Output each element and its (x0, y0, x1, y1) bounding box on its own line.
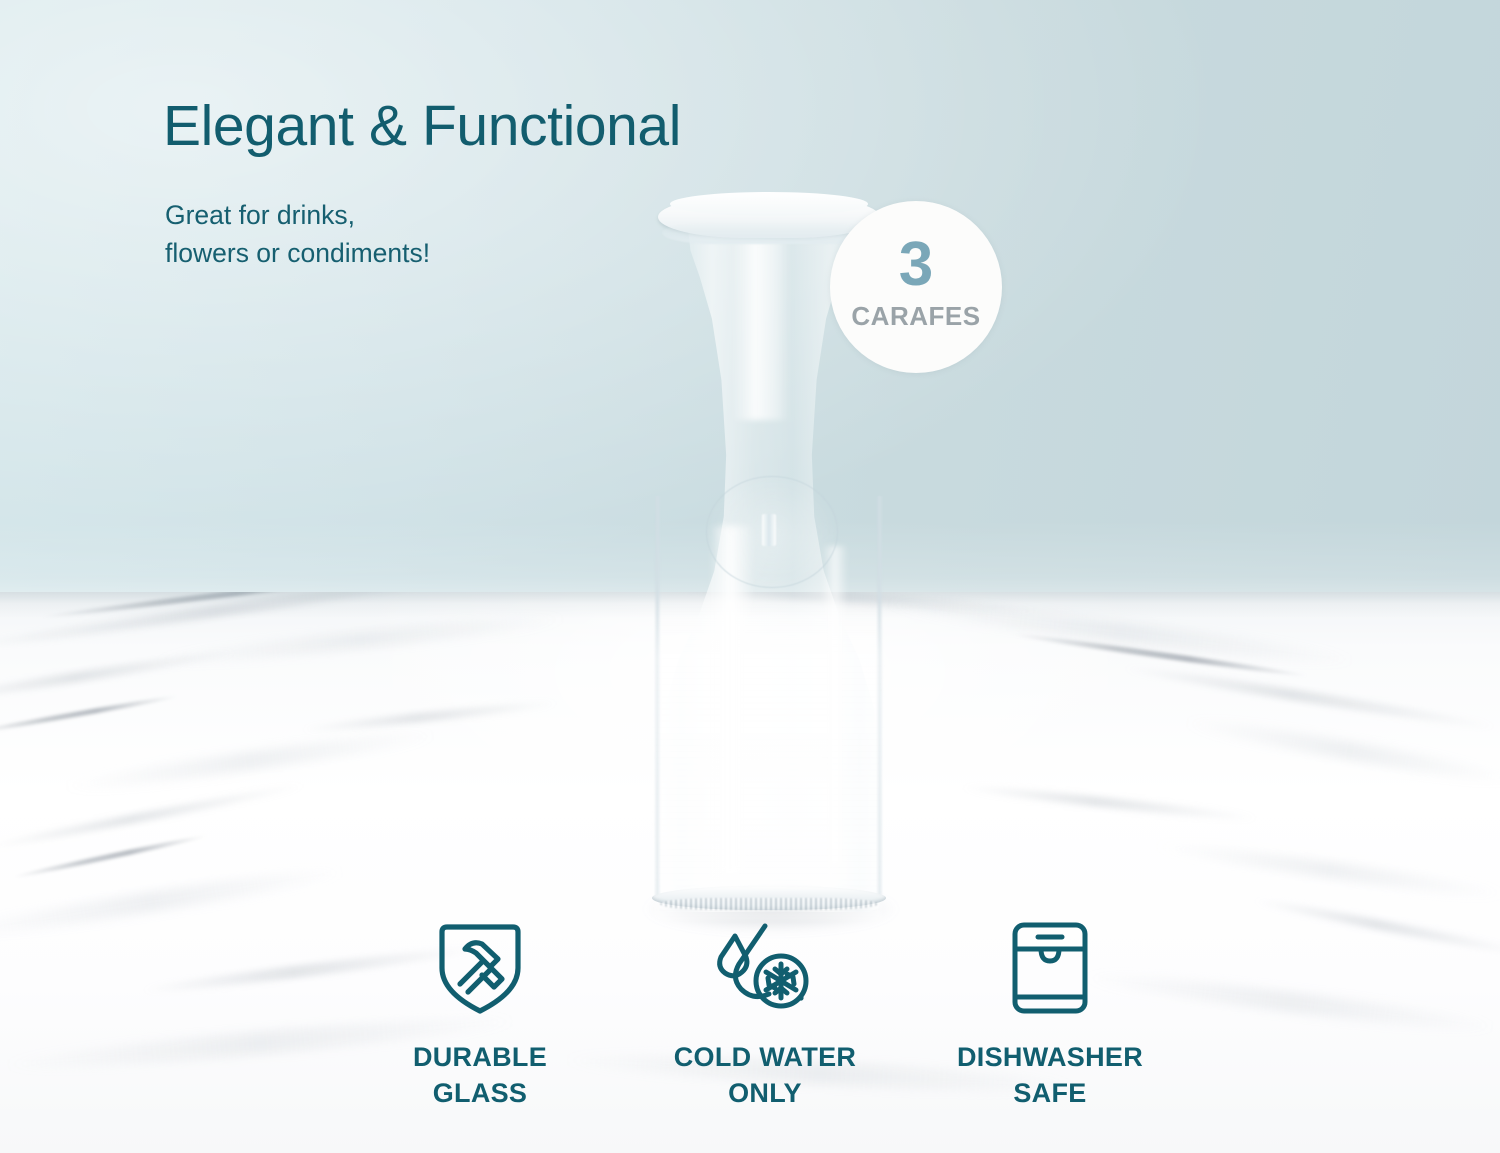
marble-vein (0, 694, 179, 735)
page-title: Elegant & Functional (163, 97, 681, 157)
page-subtitle: Great for drinks, flowers or condiments! (165, 197, 430, 272)
feature-label-line-1: DURABLE (413, 1040, 547, 1076)
carafe-base-texture (660, 898, 878, 910)
dishwasher-icon (1005, 918, 1095, 1018)
quantity-badge: 3 CARAFES (830, 201, 1002, 373)
subtitle-line-1: Great for drinks, (165, 197, 430, 235)
feature-label: DURABLE GLASS (413, 1040, 547, 1111)
feature-label: COLD WATER ONLY (674, 1040, 856, 1111)
feature-label-line-2: GLASS (413, 1076, 547, 1112)
feature-label-line-1: COLD WATER (674, 1040, 856, 1076)
shield-hammer-icon (432, 918, 528, 1018)
feature-label: DISHWASHER SAFE (957, 1040, 1143, 1111)
product-marketing-image: Elegant & Functional Great for drinks, f… (0, 0, 1500, 1153)
feature-cold-water-only: COLD WATER ONLY (640, 918, 890, 1111)
badge-label: CARAFES (851, 301, 980, 332)
feature-label-line-2: SAFE (957, 1076, 1143, 1112)
marble-vein (12, 833, 209, 879)
badge-count: 3 (899, 236, 933, 293)
subtitle-line-2: flowers or condiments! (165, 235, 430, 273)
feature-list: DURABLE GLASS (355, 918, 1175, 1111)
carafe-body-highlight-secondary (822, 546, 848, 866)
carafe-lid-top (670, 192, 868, 216)
feature-label-line-2: ONLY (674, 1076, 856, 1112)
carafe-neck-highlight (732, 240, 790, 420)
carafe-embossed-mark (762, 514, 776, 546)
feature-dishwasher-safe: DISHWASHER SAFE (925, 918, 1175, 1111)
water-drop-snowflake-icon (713, 918, 817, 1018)
feature-durable-glass: DURABLE GLASS (355, 918, 605, 1111)
feature-label-line-1: DISHWASHER (957, 1040, 1143, 1076)
